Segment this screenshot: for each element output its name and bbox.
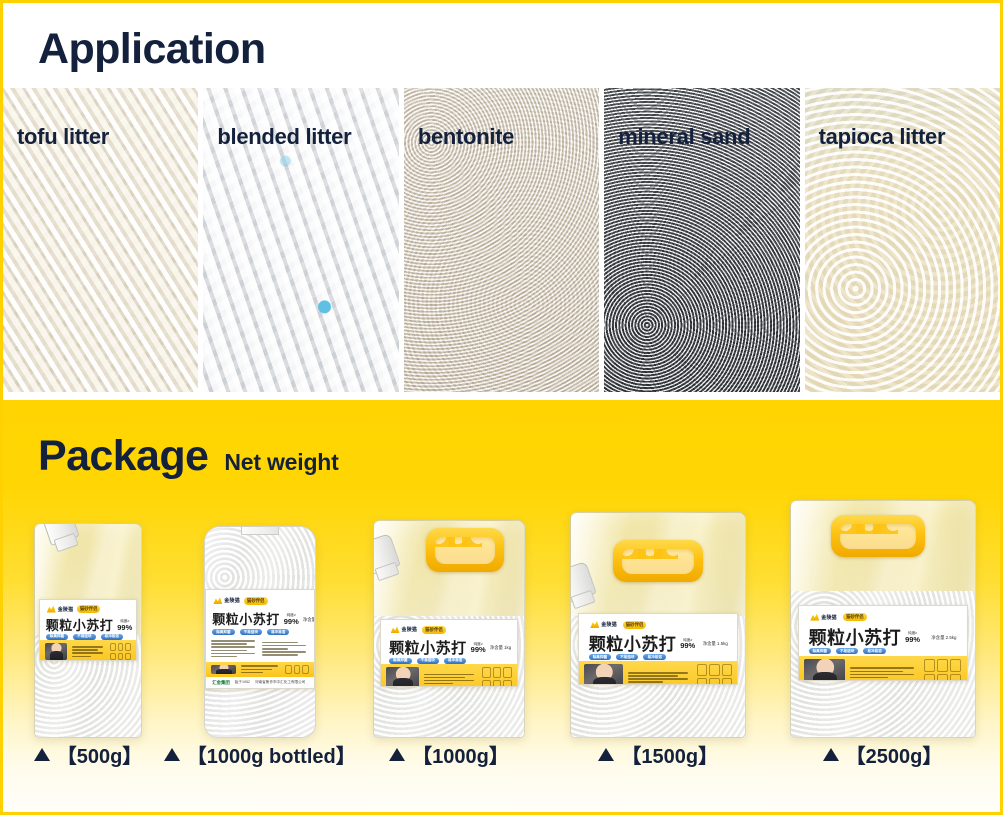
package-section: Package Net weight 金陵猫 猫砂伴侣 <box>3 400 1000 812</box>
company-address: 河南省焦作市中汇化工有限公司 <box>255 680 305 685</box>
feature-tag: 易冲易溶 <box>863 648 885 654</box>
label-detail-panel <box>799 656 967 681</box>
usage-icon <box>722 664 733 677</box>
model-photo <box>211 665 236 675</box>
usage-icon <box>125 643 131 651</box>
brand-chip: 金陵猫 <box>47 606 74 613</box>
purity-badge: 纯度≥ 99% <box>680 639 695 650</box>
label-product-row: 颗粒小苏打 纯度≥ 99% 净含量 1kg <box>381 640 517 657</box>
label-product-row: 颗粒小苏打 纯度≥ 99% 净含量 1kg <box>206 612 314 629</box>
label-detail-panel <box>579 661 737 685</box>
tile-label-blended-litter: blended litter <box>217 124 351 150</box>
handle-cutout <box>435 537 495 564</box>
brand-chip: 金陵猫 <box>810 614 837 621</box>
label-feature-tags: 除臭抑菌 不易结块 易冲易溶 <box>381 657 517 664</box>
feature-tag: 易冲易溶 <box>101 634 123 640</box>
feature-tag: 除臭抑菌 <box>589 654 611 660</box>
company-founded: 始于1952 <box>235 680 250 685</box>
caption-text: 【1500g】 <box>621 740 718 769</box>
usage-icons <box>110 643 131 660</box>
usage-icon <box>493 680 502 687</box>
bottle-neck-cap-icon <box>241 526 279 535</box>
feature-tag: 易冲易溶 <box>267 629 289 635</box>
usage-icon <box>503 667 512 678</box>
purity-badge: 纯度≥ 99% <box>471 643 486 654</box>
purity-value: 99% <box>284 618 299 626</box>
package-item-1000g-bottled: 金陵猫 猫砂伴侣 颗粒小苏打 纯度≥ 99% 净含量 1kg <box>175 498 345 738</box>
product-label-1000g: 金陵猫 猫砂伴侣 颗粒小苏打 纯度≥ 99% 净含量 1kg <box>380 619 518 687</box>
package-item-2500g: 金陵猫 猫砂伴侣 颗粒小苏打 纯度≥ 99% 净含量 2.5kg <box>775 498 990 738</box>
usage-icon <box>125 653 131 661</box>
carry-handle[interactable] <box>831 515 925 557</box>
label-feature-tags: 除臭抑菌 不易结块 易冲易溶 <box>40 634 136 641</box>
pouch-body-1000g: 金陵猫 猫砂伴侣 颗粒小苏打 纯度≥ 99% 净含量 1kg <box>373 520 525 738</box>
label-feature-tags: 除臭抑菌 不易结块 易冲易溶 <box>206 628 314 636</box>
product-label-1000g-bottled: 金陵猫 猫砂伴侣 颗粒小苏打 纯度≥ 99% 净含量 1kg <box>205 589 315 689</box>
cat-logo-icon <box>810 614 819 621</box>
handle-cutout <box>840 524 916 549</box>
package-heading-title: Package <box>38 432 208 481</box>
feature-tag: 除臭抑菌 <box>389 658 411 664</box>
label-detail-panel <box>206 662 314 678</box>
product-label-1500g: 金陵猫 猫砂伴侣 颗粒小苏打 纯度≥ 99% 净含量 1.5kg <box>578 613 738 685</box>
product-label-500g: 金陵猫 猫砂伴侣 颗粒小苏打 纯度≥ 99% 净含量 500g <box>39 599 137 661</box>
usage-icon <box>118 643 124 651</box>
brand-chip: 金陵猫 <box>213 597 240 604</box>
brand-name: 金陵猫 <box>224 597 240 604</box>
triangle-bullet-icon <box>823 748 839 761</box>
usage-icon <box>709 664 720 677</box>
company-logo-text: 汇金集团 <box>212 680 230 686</box>
label-copy-lines <box>241 665 280 675</box>
net-weight-text: 净含量 1kg <box>303 617 315 623</box>
usage-icon <box>937 659 948 672</box>
spout-cap-icon <box>373 533 401 575</box>
usage-icon <box>302 665 309 674</box>
application-heading: Application <box>38 25 266 74</box>
cat-logo-icon <box>391 626 400 633</box>
cat-logo-icon <box>213 597 222 604</box>
feature-tag: 易冲易溶 <box>643 654 665 660</box>
usage-icon <box>110 653 116 661</box>
slogan-chip: 猫砂伴侣 <box>77 605 101 613</box>
purity-value: 99% <box>905 636 920 644</box>
package-item-500g: 金陵猫 猫砂伴侣 颗粒小苏打 纯度≥ 99% 净含量 500g <box>13 498 163 738</box>
label-product-row: 颗粒小苏打 纯度≥ 99% 净含量 500g <box>40 618 136 634</box>
usage-icons <box>285 665 309 675</box>
net-weight-text: 净含量 2.5kg <box>931 635 956 641</box>
usage-icon <box>722 678 733 685</box>
tile-label-bentonite: bentonite <box>418 124 514 150</box>
product-name: 颗粒小苏打 <box>212 613 280 626</box>
label-detail-panel <box>40 640 136 661</box>
triangle-bullet-icon <box>598 748 614 761</box>
package-caption-500g: 【500g】 <box>13 740 163 769</box>
label-feature-tags: 除臭抑菌 不易结块 易冲易溶 <box>799 647 967 655</box>
feature-tag: 不易结块 <box>73 634 95 640</box>
label-product-row: 颗粒小苏打 纯度≥ 99% 净含量 1.5kg <box>579 635 737 653</box>
usage-icon <box>493 667 502 678</box>
feature-tag: 不易结块 <box>836 648 858 654</box>
caption-text: 【2500g】 <box>846 740 943 769</box>
brand-name: 金陵猫 <box>601 621 617 628</box>
product-label-2500g: 金陵猫 猫砂伴侣 颗粒小苏打 纯度≥ 99% 净含量 2.5kg <box>798 605 968 681</box>
slogan-chip: 猫砂伴侣 <box>244 597 268 605</box>
product-detail-page: Application tofu litter blended litter b… <box>0 0 1003 815</box>
slogan-chip: 猫砂伴侣 <box>623 621 647 629</box>
label-copy-lines <box>424 667 477 687</box>
package-item-1000g: 金陵猫 猫砂伴侣 颗粒小苏打 纯度≥ 99% 净含量 1kg <box>357 498 542 738</box>
net-weight-text: 净含量 1.5kg <box>703 641 728 647</box>
package-item-1500g: 金陵猫 猫砂伴侣 颗粒小苏打 纯度≥ 99% 净含量 1.5kg <box>553 498 763 738</box>
usage-icon <box>709 678 720 685</box>
tile-label-tapioca-litter: tapioca litter <box>819 124 946 150</box>
usage-icon <box>294 665 301 674</box>
pouch-body-1500g: 金陵猫 猫砂伴侣 颗粒小苏打 纯度≥ 99% 净含量 1.5kg <box>570 512 746 738</box>
feature-tag: 除臭抑菌 <box>809 648 831 654</box>
label-spec-table <box>206 636 314 661</box>
brand-chip: 金陵猫 <box>391 626 418 633</box>
package-caption-2500g: 【2500g】 <box>775 740 990 769</box>
label-brand-row: 金陵猫 猫砂伴侣 <box>206 590 314 612</box>
slogan-chip: 猫砂伴侣 <box>422 626 446 634</box>
product-name: 颗粒小苏打 <box>809 629 902 647</box>
label-brand-row: 金陵猫 猫砂伴侣 <box>381 620 517 640</box>
label-footer: 汇金集团 始于1952 河南省焦作市中汇化工有限公司 <box>206 677 314 688</box>
product-name: 颗粒小苏打 <box>589 636 677 653</box>
bottle-body-1000g: 金陵猫 猫砂伴侣 颗粒小苏打 纯度≥ 99% 净含量 1kg <box>204 526 316 738</box>
package-product-row: 金陵猫 猫砂伴侣 颗粒小苏打 纯度≥ 99% 净含量 500g <box>13 498 990 738</box>
usage-icon <box>482 667 491 678</box>
application-tile-tapioca-litter: tapioca litter <box>805 88 1000 392</box>
usage-icon <box>110 643 116 651</box>
label-brand-row: 金陵猫 猫砂伴侣 <box>799 606 967 628</box>
usage-icon <box>503 680 512 687</box>
usage-icons <box>924 659 962 681</box>
usage-icon <box>697 664 708 677</box>
purity-badge: 纯度≥ 99% <box>905 632 920 643</box>
usage-icon <box>950 674 961 681</box>
pouch-body-500g: 金陵猫 猫砂伴侣 颗粒小苏打 纯度≥ 99% 净含量 500g <box>34 523 142 738</box>
spout-cap-icon <box>40 523 79 546</box>
application-section: Application tofu litter blended litter b… <box>3 3 1000 392</box>
package-caption-1000g: 【1000g】 <box>357 740 542 769</box>
label-brand-row: 金陵猫 猫砂伴侣 <box>40 600 136 618</box>
label-copy-lines <box>628 664 692 685</box>
application-tile-mineral-sand: mineral sand <box>604 88 799 392</box>
net-weight-text: 净含量 500g <box>136 623 137 629</box>
usage-icon <box>950 659 961 672</box>
cat-logo-icon <box>590 621 599 628</box>
package-caption-row: 【500g】 【1000g bottled】 【1000g】 【1500g】 【… <box>13 740 990 769</box>
usage-icon <box>937 674 948 681</box>
triangle-bullet-icon <box>164 748 180 761</box>
brand-name: 金陵猫 <box>402 626 418 633</box>
carry-handle[interactable] <box>426 528 504 572</box>
package-heading-subtitle: Net weight <box>224 449 338 476</box>
application-tile-bentonite: bentonite <box>404 88 599 392</box>
purity-badge: 纯度≥ 99% <box>117 620 132 631</box>
triangle-bullet-icon <box>389 748 405 761</box>
caption-text: 【1000g】 <box>412 740 509 769</box>
feature-tag: 易冲易溶 <box>444 658 466 664</box>
spout-cap-icon <box>570 561 597 603</box>
model-photo <box>386 667 419 687</box>
triangle-bullet-icon <box>34 748 50 761</box>
feature-tag: 不易结块 <box>417 658 439 664</box>
brand-chip: 金陵猫 <box>590 621 617 628</box>
model-photo <box>584 664 622 685</box>
product-name: 颗粒小苏打 <box>46 619 114 632</box>
brand-name: 金陵猫 <box>821 614 837 621</box>
label-copy-lines <box>211 638 258 659</box>
feature-tag: 不易结块 <box>240 629 262 635</box>
usage-icon <box>924 674 935 681</box>
feature-tag: 除臭抑菌 <box>212 629 234 635</box>
application-tile-tofu-litter: tofu litter <box>3 88 198 392</box>
feature-tag: 除臭抑菌 <box>46 634 68 640</box>
application-tile-strip: tofu litter blended litter bentonite min… <box>3 88 1000 392</box>
brand-name: 金陵猫 <box>58 606 74 613</box>
label-product-row: 颗粒小苏打 纯度≥ 99% 净含量 2.5kg <box>799 628 967 647</box>
purity-value: 99% <box>471 646 486 654</box>
tile-label-tofu-litter: tofu litter <box>17 124 109 150</box>
package-caption-1000g-bottled: 【1000g bottled】 <box>175 740 345 769</box>
purity-badge: 纯度≥ 99% <box>284 614 299 625</box>
purity-value: 99% <box>117 624 132 632</box>
usage-icon <box>285 665 292 674</box>
pouch-body-2500g: 金陵猫 猫砂伴侣 颗粒小苏打 纯度≥ 99% 净含量 2.5kg <box>790 500 976 738</box>
package-caption-1500g: 【1500g】 <box>553 740 763 769</box>
label-copy-lines <box>72 643 105 660</box>
label-copy-lines <box>262 638 309 659</box>
tile-label-mineral-sand: mineral sand <box>618 124 750 150</box>
usage-icons <box>697 664 733 685</box>
caption-text: 【1000g bottled】 <box>187 740 356 769</box>
product-name: 颗粒小苏打 <box>389 641 467 656</box>
label-brand-row: 金陵猫 猫砂伴侣 <box>579 614 737 635</box>
slogan-chip: 猫砂伴侣 <box>843 613 867 621</box>
label-detail-panel <box>381 664 517 687</box>
label-feature-tags: 除臭抑菌 不易结块 易冲易溶 <box>579 653 737 661</box>
label-copy-lines <box>850 659 919 681</box>
model-photo <box>804 659 845 681</box>
usage-icon <box>697 678 708 685</box>
net-weight-text: 净含量 1kg <box>490 645 511 651</box>
purity-value: 99% <box>680 642 695 650</box>
feature-tag: 不易结块 <box>616 654 638 660</box>
usage-icon <box>118 653 124 661</box>
carry-handle[interactable] <box>613 540 703 582</box>
application-tile-blended-litter: blended litter <box>203 88 398 392</box>
usage-icons <box>482 667 512 687</box>
usage-icon <box>482 680 491 687</box>
usage-icon <box>924 659 935 672</box>
cat-logo-icon <box>47 606 56 613</box>
model-photo <box>45 643 67 660</box>
package-heading: Package Net weight <box>38 432 339 481</box>
handle-cutout <box>622 549 694 574</box>
caption-text: 【500g】 <box>57 740 143 769</box>
